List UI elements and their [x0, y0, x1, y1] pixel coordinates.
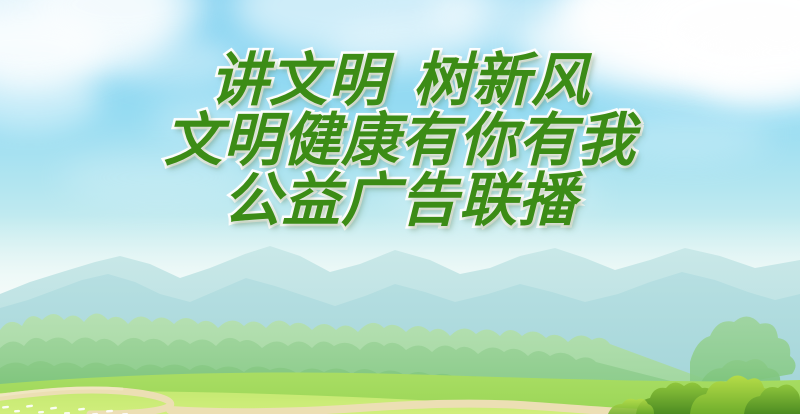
public-service-poster: 讲文明树新风 文明健康有你有我 公益广告联播 [0, 0, 800, 414]
headline-line-1-part-1: 讲文明 [210, 48, 387, 113]
headline-line-1-part-2: 树新风 [413, 48, 590, 113]
cloud-shape [30, 0, 210, 50]
headline-line-1: 讲文明树新风 [0, 52, 800, 112]
headline-block: 讲文明树新风 文明健康有你有我 公益广告联播 [0, 52, 800, 230]
cloud-shape [430, 0, 620, 55]
headline-line-3: 公益广告联播 [0, 172, 800, 230]
landscape-scene [0, 234, 800, 414]
headline-line-2: 文明健康有你有我 [0, 112, 800, 172]
